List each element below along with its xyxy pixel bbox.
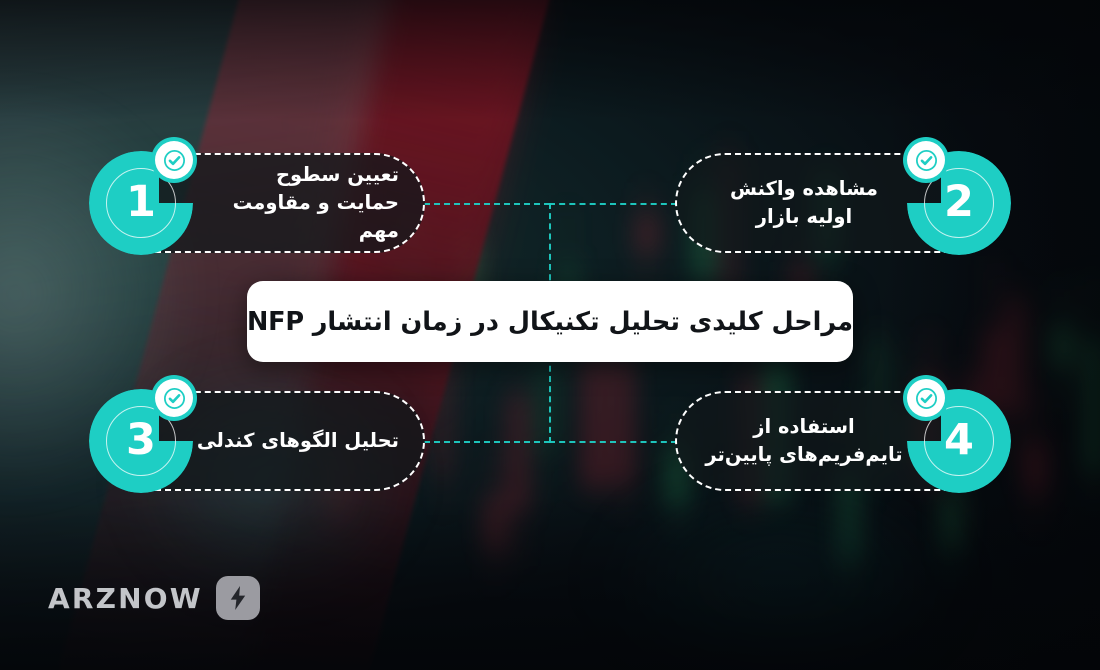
brand-name: ARZNOW: [48, 582, 203, 615]
check-badge-icon: [907, 379, 945, 417]
main-title-box: مراحل کلیدی تحلیل تکنیکال در زمان انتشار…: [247, 281, 853, 362]
connector-step-1: [424, 203, 550, 205]
connector-step-4: [549, 441, 677, 443]
step-medallion-4[interactable]: 4: [907, 389, 1011, 493]
check-badge-icon: [907, 141, 945, 179]
check-badge-icon: [155, 379, 193, 417]
page-title: مراحل کلیدی تحلیل تکنیکال در زمان انتشار…: [247, 307, 853, 337]
step-medallion-1[interactable]: 1: [89, 151, 193, 255]
step-medallion-2[interactable]: 2: [907, 151, 1011, 255]
connector-step-2: [549, 203, 677, 205]
brand-logo[interactable]: ARZNOW: [48, 576, 260, 620]
connector-step-3: [424, 441, 550, 443]
check-badge-icon: [155, 141, 193, 179]
infographic-canvas: تعیین سطوح حمایت و مقاومت مهم 1 مشاهده و…: [0, 0, 1100, 670]
step-medallion-3[interactable]: 3: [89, 389, 193, 493]
lightning-bolt-icon: [216, 576, 260, 620]
